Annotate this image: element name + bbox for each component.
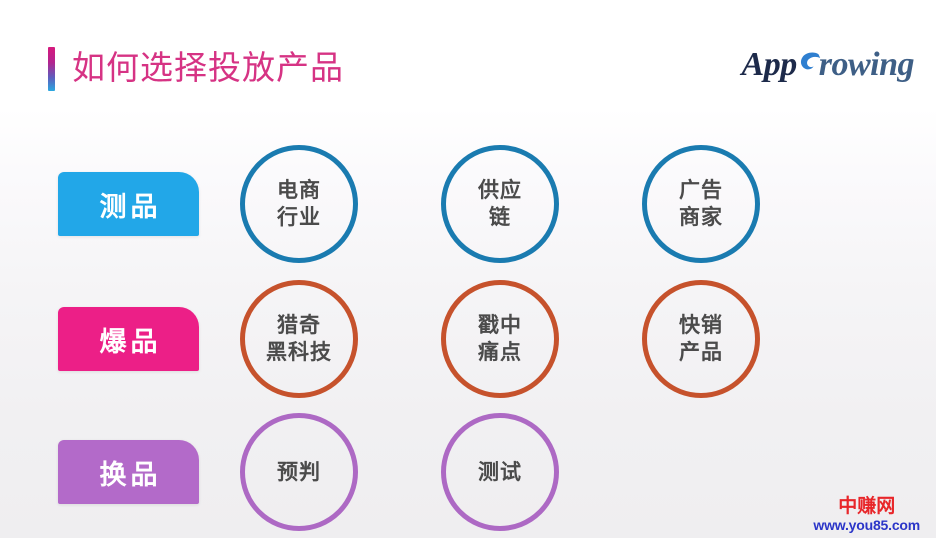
slide-canvas: 如何选择投放产品 App rowing 测品 电商 行业 供应 链 广告 商家 — [0, 0, 936, 538]
node-circle-pain-point[interactable]: 戳中 痛点 — [441, 280, 559, 398]
row-label-baopin[interactable]: 爆品 — [58, 307, 199, 371]
row-label-ceping[interactable]: 测品 — [58, 172, 199, 236]
matrix-row-huanpin: 换品 预判 测试 — [0, 408, 936, 536]
slide-header: 如何选择投放产品 App rowing — [0, 0, 936, 118]
watermark: 中赚网 www.you85.com — [813, 497, 920, 532]
product-selection-matrix: 测品 电商 行业 供应 链 广告 商家 爆品 猎奇 黑科技 戳中 痛点 快销 产… — [0, 118, 936, 538]
watermark-site-name: 中赚网 — [813, 497, 920, 516]
node-circle-curiosity-tech[interactable]: 猎奇 黑科技 — [240, 280, 358, 398]
node-circle-supply-chain[interactable]: 供应 链 — [441, 145, 559, 263]
node-circle-testing[interactable]: 测试 — [441, 413, 559, 531]
logo-text-growing: rowing — [819, 48, 914, 82]
watermark-url: www.you85.com — [813, 518, 920, 532]
row-label-huanpin[interactable]: 换品 — [58, 440, 199, 504]
node-circle-ecommerce[interactable]: 电商 行业 — [240, 145, 358, 263]
logo-text-app: App — [742, 48, 797, 82]
app-growing-logo: App rowing — [742, 42, 914, 88]
page-title: 如何选择投放产品 — [72, 42, 344, 94]
node-circle-fast-selling[interactable]: 快销 产品 — [642, 280, 760, 398]
matrix-row-ceping: 测品 电商 行业 供应 链 广告 商家 — [0, 140, 936, 268]
node-circle-advertiser[interactable]: 广告 商家 — [642, 145, 760, 263]
leaf-swoosh-icon — [799, 50, 821, 80]
matrix-row-baopin: 爆品 猎奇 黑科技 戳中 痛点 快销 产品 — [0, 275, 936, 403]
node-circle-prediction[interactable]: 预判 — [240, 413, 358, 531]
title-accent-bar — [48, 47, 55, 91]
